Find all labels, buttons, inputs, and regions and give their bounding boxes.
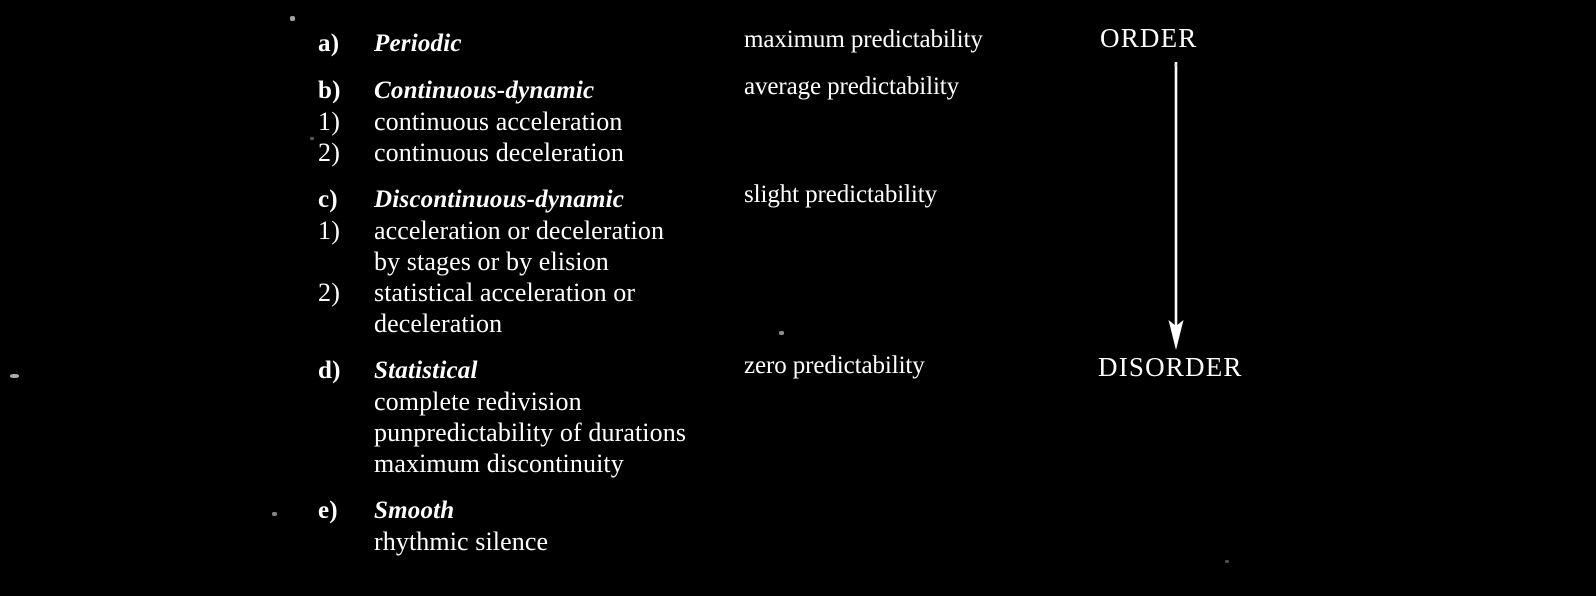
taxonomy-category-label: Smooth [374, 495, 454, 526]
taxonomy-row: 1)continuous acceleration [318, 106, 738, 137]
taxonomy-row: deceleration [318, 308, 738, 339]
taxonomy-row-marker: 1) [318, 215, 374, 246]
arrow-down-icon [1155, 62, 1197, 350]
scan-speck [779, 331, 784, 335]
scan-speck [1225, 560, 1229, 563]
predictability-label: maximum predictability [744, 26, 983, 54]
scan-speck [1174, 64, 1177, 67]
taxonomy-detail-label: statistical acceleration or [374, 277, 635, 308]
taxonomy-block: c)Discontinuous-dynamic1)acceleration or… [318, 184, 738, 339]
scan-speck [272, 512, 277, 516]
taxonomy-row: punpredictability of durations [318, 417, 738, 448]
order-label: ORDER [1100, 23, 1198, 54]
taxonomy-block: d)Statisticalcomplete redivisionpunpredi… [318, 355, 738, 479]
taxonomy-row: d)Statistical [318, 355, 738, 386]
taxonomy-category-label: Discontinuous-dynamic [374, 184, 624, 215]
taxonomy-detail-label: continuous deceleration [374, 137, 624, 168]
taxonomy-row-marker: b) [318, 75, 374, 106]
taxonomy-row-marker: d) [318, 355, 374, 386]
scan-speck [310, 137, 314, 140]
taxonomy-detail-label: by stages or by elision [374, 246, 609, 277]
taxonomy-category-label: Periodic [374, 28, 462, 59]
taxonomy-row-marker: 1) [318, 106, 374, 137]
scan-speck [10, 374, 19, 378]
taxonomy-list: a)Periodicb)Continuous-dynamic1)continuo… [318, 28, 738, 557]
taxonomy-detail-label: continuous acceleration [374, 106, 622, 137]
taxonomy-row-marker: c) [318, 184, 374, 215]
taxonomy-detail-label: complete redivision [374, 386, 582, 417]
taxonomy-row: c)Discontinuous-dynamic [318, 184, 738, 215]
taxonomy-row: complete redivision [318, 386, 738, 417]
taxonomy-row-marker: a) [318, 28, 374, 59]
taxonomy-row-marker: 2) [318, 277, 374, 308]
taxonomy-detail-label: maximum discontinuity [374, 448, 624, 479]
taxonomy-row-marker: 2) [318, 137, 374, 168]
taxonomy-category-label: Continuous-dynamic [374, 75, 594, 106]
taxonomy-row: e)Smooth [318, 495, 738, 526]
taxonomy-row: rhythmic silence [318, 526, 738, 557]
taxonomy-block: a)Periodic [318, 28, 738, 59]
figure-canvas: a)Periodicb)Continuous-dynamic1)continuo… [0, 0, 1596, 596]
taxonomy-row: b)Continuous-dynamic [318, 75, 738, 106]
taxonomy-row-marker: e) [318, 495, 374, 526]
taxonomy-category-label: Statistical [374, 355, 478, 386]
taxonomy-detail-label: acceleration or deceleration [374, 215, 664, 246]
scan-speck [290, 16, 295, 21]
taxonomy-block: e)Smoothrhythmic silence [318, 495, 738, 557]
predictability-label: slight predictability [744, 181, 937, 209]
taxonomy-row: by stages or by elision [318, 246, 738, 277]
disorder-label: DISORDER [1098, 352, 1243, 383]
taxonomy-detail-label: punpredictability of durations [374, 417, 686, 448]
taxonomy-row: 2)statistical acceleration or [318, 277, 738, 308]
taxonomy-row: 1)acceleration or deceleration [318, 215, 738, 246]
order-disorder-arrow-icon [1155, 62, 1197, 350]
taxonomy-row: maximum discontinuity [318, 448, 738, 479]
taxonomy-row: 2)continuous deceleration [318, 137, 738, 168]
predictability-label: zero predictability [744, 352, 925, 380]
taxonomy-row: a)Periodic [318, 28, 738, 59]
taxonomy-detail-label: rhythmic silence [374, 526, 548, 557]
taxonomy-detail-label: deceleration [374, 308, 502, 339]
taxonomy-block: b)Continuous-dynamic1)continuous acceler… [318, 75, 738, 168]
predictability-label: average predictability [744, 73, 959, 101]
